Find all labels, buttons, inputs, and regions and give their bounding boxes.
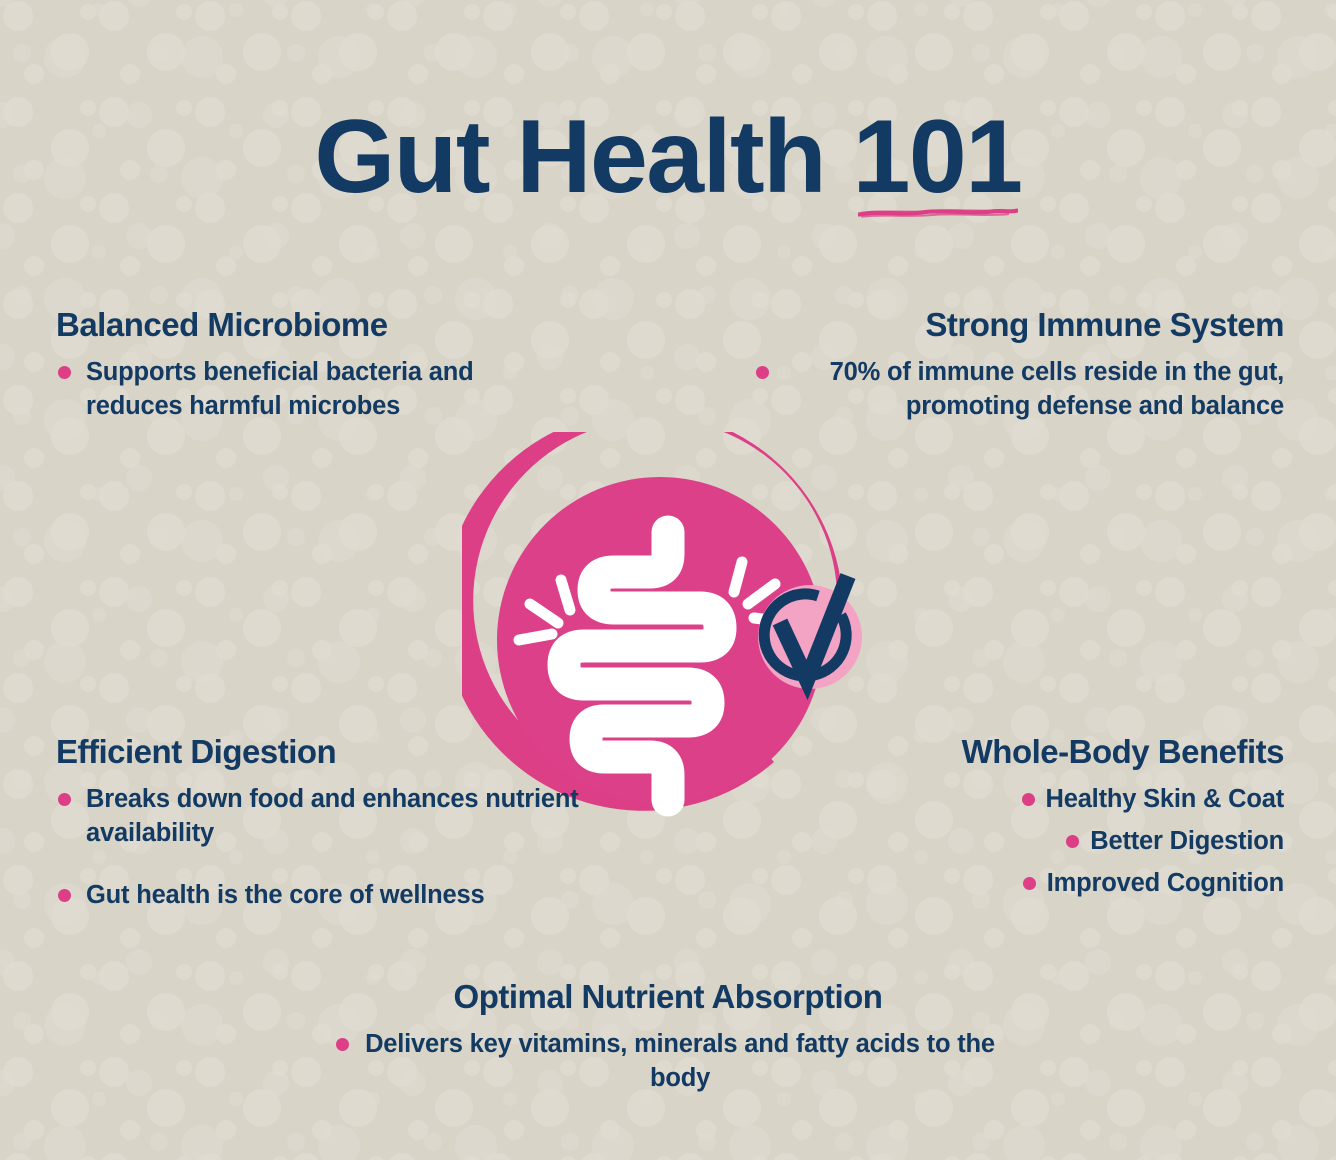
bullet-dot-icon	[58, 366, 71, 379]
title-block: Gut Health 101	[0, 104, 1336, 210]
bullet-list: Breaks down food and enhances nutrient a…	[56, 783, 596, 913]
section-heading: Balanced Microbiome	[56, 306, 576, 344]
bullet-text: Delivers key vitamins, minerals and fatt…	[360, 1028, 1000, 1096]
bullet-text: Improved Cognition	[1047, 867, 1284, 901]
bullet-text: Healthy Skin & Coat	[1046, 783, 1285, 817]
bullet-list: 70% of immune cells reside in the gut, p…	[756, 356, 1284, 424]
bullet-item: 70% of immune cells reside in the gut, p…	[756, 356, 1284, 424]
section-heading: Optimal Nutrient Absorption	[336, 978, 1000, 1016]
bullet-list: Supports beneficial bacteria and reduces…	[56, 356, 576, 424]
section-heading: Strong Immune System	[756, 306, 1284, 344]
section-optimal-nutrient-absorption: Optimal Nutrient Absorption Delivers key…	[336, 978, 1000, 1096]
bullet-item: Improved Cognition	[820, 867, 1284, 901]
section-efficient-digestion: Efficient Digestion Breaks down food and…	[56, 733, 596, 913]
bullet-text: Supports beneficial bacteria and reduces…	[86, 356, 576, 424]
bullet-dot-icon	[756, 366, 769, 379]
bullet-item: Healthy Skin & Coat	[820, 783, 1284, 817]
section-balanced-microbiome: Balanced Microbiome Supports beneficial …	[56, 306, 576, 424]
infographic-canvas: Gut Health 101 Balanced Microbiome Suppo…	[0, 0, 1336, 1160]
bullet-dot-icon	[58, 889, 71, 902]
bullet-item: Delivers key vitamins, minerals and fatt…	[336, 1028, 1000, 1096]
page-title: Gut Health 101	[314, 104, 1021, 210]
section-heading: Whole-Body Benefits	[820, 733, 1284, 771]
bullet-dot-icon	[1022, 793, 1035, 806]
bullet-text: 70% of immune cells reside in the gut, p…	[780, 356, 1284, 424]
bullet-item: Gut health is the core of wellness	[56, 879, 596, 913]
bullet-text: Breaks down food and enhances nutrient a…	[86, 783, 596, 851]
bullet-list: Delivers key vitamins, minerals and fatt…	[336, 1028, 1000, 1096]
bullet-list: Healthy Skin & Coat Better Digestion Imp…	[820, 783, 1284, 901]
bullet-item: Breaks down food and enhances nutrient a…	[56, 783, 596, 851]
title-underline-stroke	[858, 206, 1018, 220]
bullet-dot-icon	[336, 1038, 349, 1051]
section-strong-immune-system: Strong Immune System 70% of immune cells…	[756, 306, 1284, 424]
bullet-dot-icon	[1023, 877, 1036, 890]
page-title-text: Gut Health 101	[314, 99, 1021, 215]
bullet-text: Gut health is the core of wellness	[86, 879, 484, 913]
bullet-item: Better Digestion	[820, 825, 1284, 859]
section-heading: Efficient Digestion	[56, 733, 596, 771]
bullet-item: Supports beneficial bacteria and reduces…	[56, 356, 576, 424]
bullet-text: Better Digestion	[1090, 825, 1284, 859]
bullet-dot-icon	[58, 793, 71, 806]
bullet-dot-icon	[1066, 835, 1079, 848]
section-whole-body-benefits: Whole-Body Benefits Healthy Skin & Coat …	[820, 733, 1284, 901]
